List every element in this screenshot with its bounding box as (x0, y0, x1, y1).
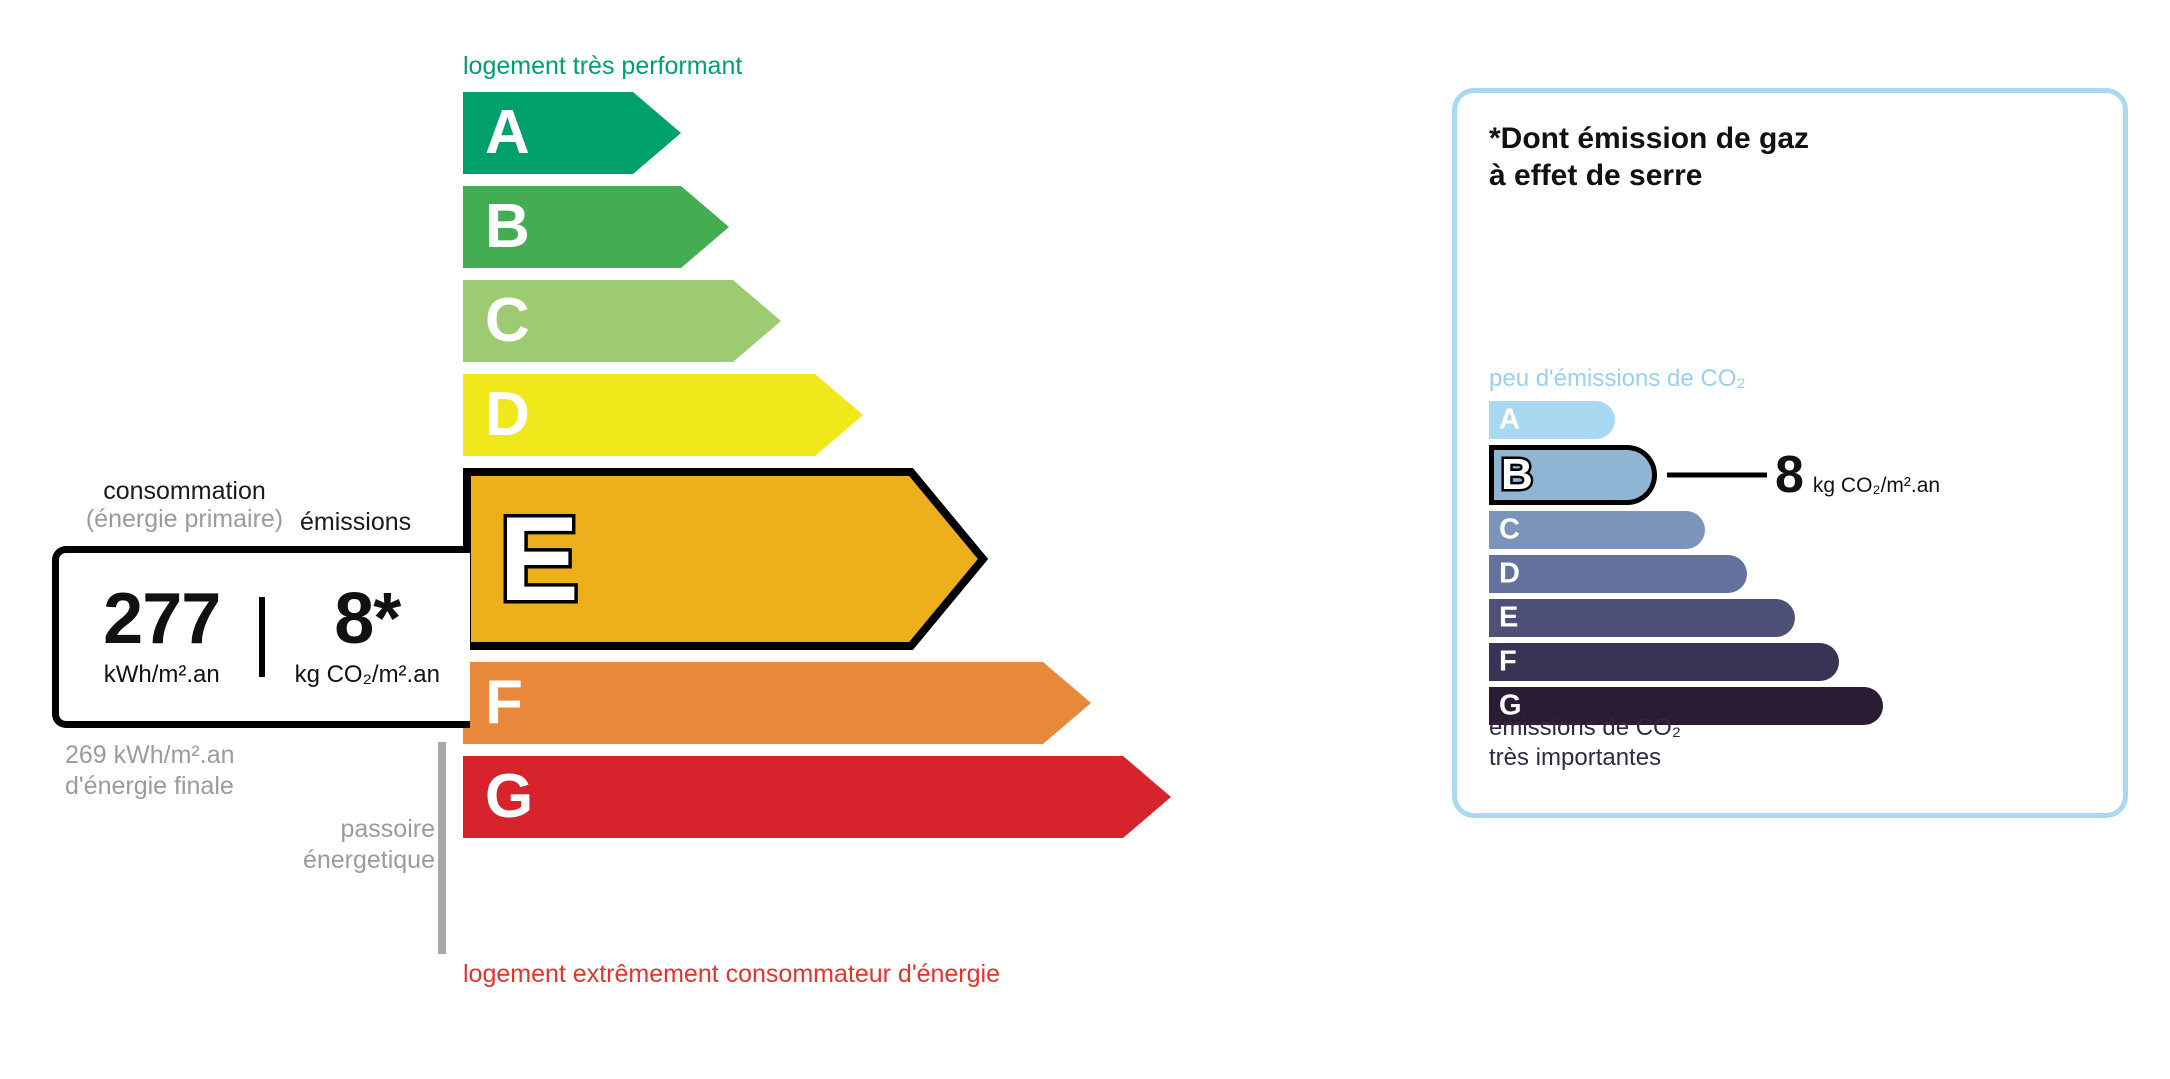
passoire-divider (438, 742, 446, 954)
co2-emissions-panel: *Dont émission de gaz à effet de serre p… (1452, 88, 2128, 818)
co2-bottom-caption-line1: émissions de CO₂ (1489, 713, 1681, 743)
co2-bottom-caption-line2: très importantes (1489, 743, 1681, 773)
energy-grade-letter-d: D (485, 384, 530, 446)
energy-bar-d (463, 374, 1363, 456)
co2-grade-row-c[interactable]: C (1489, 511, 2089, 549)
energy-grade-row-e-current[interactable]: E (463, 468, 1363, 650)
energy-grade-row-f[interactable]: F (463, 662, 1363, 744)
energy-grade-letter-a: A (485, 102, 530, 164)
passoire-label: passoire énergetique (280, 814, 435, 877)
energy-bar-c (463, 280, 1363, 362)
energy-grade-row-g[interactable]: G (463, 756, 1363, 838)
consumption-unit: kWh/m².an (59, 661, 265, 689)
co2-grade-row-d[interactable]: D (1489, 555, 2089, 593)
emission-unit: kg CO₂/m².an (265, 661, 471, 689)
value-box: 277 kWh/m².an 8* kg CO₂/m².an (52, 546, 470, 728)
energy-bottom-caption: logement extrêmement consommateur d'éner… (463, 960, 1000, 989)
co2-grade-letter-d: D (1499, 560, 1520, 589)
energy-bar-e (463, 468, 1363, 650)
consommation-label-sub: (énergie primaire) (62, 506, 307, 534)
co2-title-line2: à effet de serre (1489, 158, 1809, 195)
co2-grade-row-f[interactable]: F (1489, 643, 2089, 681)
co2-bar-d (1489, 555, 1747, 593)
energy-grade-row-c[interactable]: C (463, 280, 1363, 362)
energy-bar-a (463, 92, 1363, 174)
co2-bottom-caption: émissions de CO₂ très importantes (1489, 713, 1681, 773)
energy-performance-panel: logement très performant A B (0, 0, 1400, 1079)
co2-bar-c (1489, 511, 1705, 549)
co2-grade-letter-e: E (1499, 604, 1518, 633)
energy-bar-f (463, 662, 1363, 744)
co2-top-caption: peu d'émissions de CO₂ (1489, 365, 1746, 393)
passoire-line1: passoire (280, 814, 435, 845)
energy-grade-row-d[interactable]: D (463, 374, 1363, 456)
consommation-label-main: consommation (62, 478, 307, 506)
co2-grade-letter-f: F (1499, 648, 1517, 677)
co2-current-value: 8 (1775, 449, 1804, 501)
co2-panel-title: *Dont émission de gaz à effet de serre (1489, 121, 1809, 194)
co2-title-line1: *Dont émission de gaz (1489, 121, 1809, 158)
final-energy-line2: d'énergie finale (65, 771, 235, 802)
energy-grade-letter-g: G (485, 766, 533, 828)
consommation-label: consommation (énergie primaire) (62, 478, 307, 533)
energy-grade-bars: A B C (463, 92, 1363, 850)
energy-grade-letter-e: E (499, 499, 579, 619)
energy-grade-row-b[interactable]: B (463, 186, 1363, 268)
co2-grade-row-b-current[interactable]: B 8 kg CO₂/m².an (1489, 445, 2089, 505)
energy-grade-letter-c: C (485, 290, 530, 352)
co2-grade-row-a[interactable]: A (1489, 401, 2089, 439)
emissions-label: émissions (300, 508, 411, 537)
co2-grade-letter-a: A (1499, 406, 1520, 435)
co2-grade-letter-b: B (1501, 453, 1533, 497)
energy-bar-b (463, 186, 1363, 268)
energy-grade-letter-f: F (485, 672, 523, 734)
co2-grade-row-e[interactable]: E (1489, 599, 2089, 637)
co2-leader-line (1667, 473, 1767, 478)
passoire-line2: énergetique (280, 845, 435, 876)
energy-bar-g (463, 756, 1363, 838)
energy-top-caption: logement très performant (463, 52, 742, 81)
co2-grade-letter-c: C (1499, 516, 1520, 545)
emission-value-cell: 8* kg CO₂/m².an (265, 585, 471, 689)
final-energy-note: 269 kWh/m².an d'énergie finale (65, 740, 235, 803)
co2-current-unit: kg CO₂/m².an (1813, 474, 1940, 498)
consumption-value: 277 (59, 585, 265, 653)
final-energy-line1: 269 kWh/m².an (65, 740, 235, 771)
emission-value: 8* (265, 585, 471, 653)
energy-grade-letter-b: B (485, 196, 530, 258)
co2-bar-e (1489, 599, 1795, 637)
co2-grade-bars: A B 8 kg CO₂/m².an C D E (1489, 401, 2089, 731)
dpe-label: logement très performant A B (0, 0, 2170, 1079)
co2-current-value-group: 8 kg CO₂/m².an (1775, 449, 1940, 501)
consumption-value-cell: 277 kWh/m².an (59, 585, 265, 689)
energy-grade-row-a[interactable]: A (463, 92, 1363, 174)
co2-bar-f (1489, 643, 1839, 681)
